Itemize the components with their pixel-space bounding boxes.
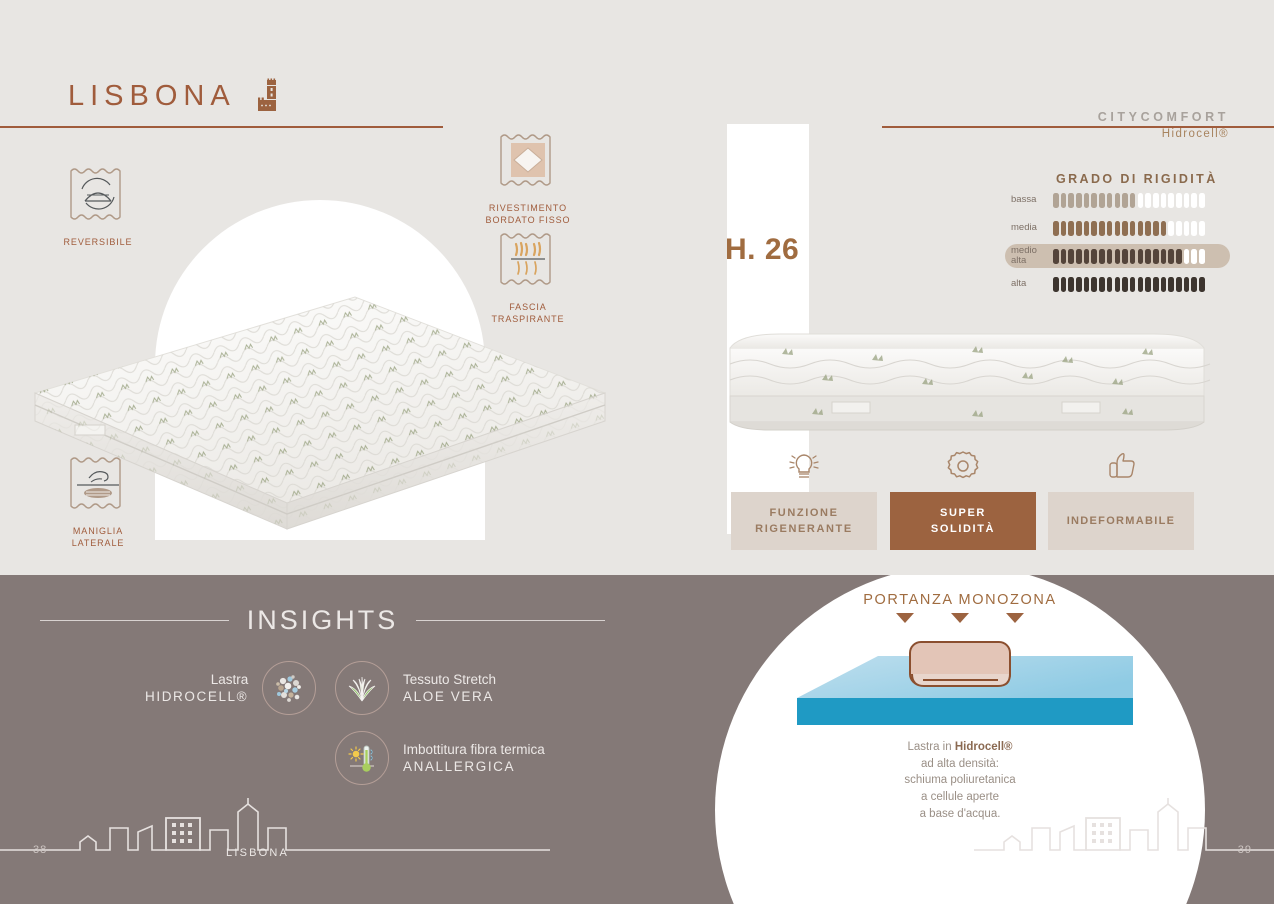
rigidity-bar-filled <box>1122 221 1128 236</box>
rigidity-bar-empty <box>1199 221 1205 236</box>
caption-pre: Lastra in <box>908 741 955 753</box>
rigidity-bar-filled <box>1145 221 1151 236</box>
benefit-super-solidita[interactable]: SUPER SOLIDITÀ <box>890 445 1036 550</box>
caption-line2: ad alta densità: <box>921 758 999 770</box>
benefit-line1: INDEFORMABILE <box>1067 513 1176 530</box>
rigidity-row-label: media <box>1005 223 1053 233</box>
rigidity-row-media: media <box>1005 216 1230 240</box>
rigidity-bar-filled <box>1076 193 1082 208</box>
feature-label-line1: FASCIA <box>509 302 546 312</box>
rigidity-bar-empty <box>1153 193 1159 208</box>
rigidity-bar-filled <box>1068 277 1074 292</box>
breathable-band-icon <box>497 228 559 290</box>
reversible-mattress-icon <box>67 163 129 225</box>
city-skyline-icon <box>974 798 1274 858</box>
rigidity-bar-filled <box>1191 277 1197 292</box>
rigidity-bar-filled <box>1099 221 1105 236</box>
insight-line2: ANALLERGICA <box>403 758 545 775</box>
rigidity-bar-filled <box>1153 221 1159 236</box>
rigidity-row-label: medioalta <box>1005 246 1053 266</box>
rigidity-bar-filled <box>1053 193 1059 208</box>
rigidity-bar-filled <box>1145 277 1151 292</box>
rigidity-bar-filled <box>1053 221 1059 236</box>
rigidity-bar-empty <box>1138 193 1144 208</box>
insights-header: INSIGHTS <box>40 605 605 636</box>
rigidity-bar-filled <box>1176 277 1182 292</box>
insight-line1: Tessuto Stretch <box>403 671 496 688</box>
page-title: LISBONA <box>68 80 236 113</box>
rigidity-bar-track <box>1053 249 1205 264</box>
rigidity-bar-filled <box>1130 221 1136 236</box>
rigidity-bar-empty <box>1199 193 1205 208</box>
insight-line1: Lastra <box>145 671 248 688</box>
rigidity-bar-filled <box>1084 249 1090 264</box>
rigidity-bar-filled <box>1176 249 1182 264</box>
foam-beads-icon <box>262 661 316 715</box>
rigidity-bar-filled <box>1061 193 1067 208</box>
rigidity-chart: bassamediamedioaltaalta <box>1005 188 1230 300</box>
rigidity-bar-filled <box>1053 249 1059 264</box>
rigidity-bar-filled <box>1115 193 1121 208</box>
rigidity-bar-filled <box>1161 277 1167 292</box>
thumbs-up-icon <box>1048 445 1194 487</box>
page-number-right: 39 <box>1238 844 1252 856</box>
rigidity-bar-track <box>1053 221 1205 236</box>
insights-rule-left <box>40 620 229 621</box>
brand-name: CITYCOMFORT <box>1098 110 1229 124</box>
benefit-line2: RIGENERANTE <box>755 521 853 538</box>
rigidity-bar-filled <box>1161 221 1167 236</box>
page-title-group: LISBONA <box>68 78 280 114</box>
feature-label: REVERSIBILE <box>43 237 153 249</box>
aloe-vera-icon <box>335 661 389 715</box>
rigidity-bar-filled <box>1107 249 1113 264</box>
page-number-left: 38 <box>33 844 47 856</box>
rigidity-bar-empty <box>1191 249 1197 264</box>
bottom-section: INSIGHTS Lastra HIDROCELL® <box>0 575 1274 904</box>
feature-label-line1: MANIGLIA <box>73 526 123 536</box>
rigidity-bar-filled <box>1076 221 1082 236</box>
rigidity-bar-empty <box>1168 193 1174 208</box>
rigidity-bar-filled <box>1076 277 1082 292</box>
rigidity-row-label: alta <box>1005 279 1053 289</box>
rigidity-bar-filled <box>1091 221 1097 236</box>
benefit-button-label[interactable]: FUNZIONE RIGENERANTE <box>731 492 877 550</box>
rigidity-bar-filled <box>1084 193 1090 208</box>
benefit-button-label[interactable]: INDEFORMABILE <box>1048 492 1194 550</box>
rigidity-bar-filled <box>1107 221 1113 236</box>
feature-reversibile: REVERSIBILE <box>43 163 153 249</box>
rigidity-bar-filled <box>1061 249 1067 264</box>
rigidity-bar-empty <box>1176 221 1182 236</box>
insights-title: INSIGHTS <box>247 605 399 636</box>
rigidity-bar-filled <box>1084 221 1090 236</box>
rigidity-bar-filled <box>1099 249 1105 264</box>
rigidity-bar-filled <box>1061 221 1067 236</box>
rigidity-bar-filled <box>1115 221 1121 236</box>
insights-rule-right <box>416 620 605 621</box>
rigidity-bar-filled <box>1068 221 1074 236</box>
feature-label-line1: RIVESTIMENTO <box>489 203 567 213</box>
benefit-funzione-rigenerante[interactable]: FUNZIONE RIGENERANTE <box>731 445 877 550</box>
arrow-down-icon <box>951 613 969 623</box>
rigidity-bar-filled <box>1130 193 1136 208</box>
rigidity-bar-filled <box>1168 277 1174 292</box>
rigidity-bar-track <box>1053 277 1205 292</box>
rigidity-bar-empty <box>1145 193 1151 208</box>
rigidity-bar-filled <box>1099 193 1105 208</box>
rigidity-row-label: bassa <box>1005 195 1053 205</box>
benefit-indeformabile[interactable]: INDEFORMABILE <box>1048 445 1194 550</box>
rigidity-bar-empty <box>1161 193 1167 208</box>
rigidity-bar-filled <box>1107 277 1113 292</box>
portanza-title: PORTANZA MONOZONA <box>715 592 1205 608</box>
rigidity-bar-filled <box>1091 277 1097 292</box>
rigidity-bar-filled <box>1115 249 1121 264</box>
height-badge: H. 26 <box>725 233 799 267</box>
fixed-bordered-cover-icon <box>497 129 559 191</box>
rigidity-bar-filled <box>1130 277 1136 292</box>
rigidity-bar-filled <box>1061 277 1067 292</box>
rigidity-bar-filled <box>1199 277 1205 292</box>
rigidity-bar-filled <box>1122 249 1128 264</box>
rigidity-bar-empty <box>1191 193 1197 208</box>
arrow-down-icon <box>1006 613 1024 623</box>
rigidity-bar-empty <box>1184 249 1190 264</box>
thermometer-icon <box>335 731 389 785</box>
rigidity-bar-empty <box>1176 193 1182 208</box>
body-block <box>910 642 1010 686</box>
rigidity-bar-filled <box>1107 193 1113 208</box>
title-divider <box>0 126 443 128</box>
rigidity-bar-filled <box>1115 277 1121 292</box>
rigidity-bar-filled <box>1076 249 1082 264</box>
insight-line2: ALOE VERA <box>403 688 496 705</box>
rigidity-bar-empty <box>1199 249 1205 264</box>
feature-maniglia-laterale: MANIGLIA LATERALE <box>43 452 153 550</box>
rigidity-bar-filled <box>1068 193 1074 208</box>
rigidity-bar-empty <box>1184 221 1190 236</box>
rigidity-bar-filled <box>1184 277 1190 292</box>
rigidity-bar-filled <box>1153 277 1159 292</box>
rigidity-bar-filled <box>1168 249 1174 264</box>
rigidity-row-medio: medioalta <box>1005 244 1230 268</box>
rigidity-bar-empty <box>1184 193 1190 208</box>
feature-rivestimento-bordato: RIVESTIMENTO BORDATO FISSO <box>473 129 583 227</box>
caption-strong: Hidrocell® <box>955 741 1013 753</box>
benefit-line1: FUNZIONE <box>769 505 838 522</box>
mattress-photo-right <box>722 318 1212 443</box>
rigidity-bar-filled <box>1084 277 1090 292</box>
rigidity-bar-filled <box>1138 221 1144 236</box>
rigidity-bar-filled <box>1138 277 1144 292</box>
feature-label-line2: BORDATO FISSO <box>486 215 571 225</box>
tower-icon <box>254 78 280 114</box>
rigidity-bar-filled <box>1145 249 1151 264</box>
caption-line3: schiuma poliuretanica <box>904 774 1015 786</box>
insight-line1: Imbottitura fibra termica <box>403 741 545 758</box>
rigidity-bar-empty <box>1191 221 1197 236</box>
rigidity-bar-track <box>1053 193 1205 208</box>
rigidity-bar-filled <box>1099 277 1105 292</box>
insight-item-hidrocell: Lastra HIDROCELL® <box>145 661 316 715</box>
rigidity-bar-filled <box>1161 249 1167 264</box>
rigidity-bar-filled <box>1122 277 1128 292</box>
insight-item-anallergica: Imbottitura fibra termica ANALLERGICA <box>335 731 545 785</box>
rigidity-row-alta: alta <box>1005 272 1230 296</box>
benefit-line2: SOLIDITÀ <box>931 521 995 538</box>
rigidity-bar-filled <box>1130 249 1136 264</box>
rigidity-bar-filled <box>1053 277 1059 292</box>
insight-line2: HIDROCELL® <box>145 688 248 705</box>
feature-fascia-traspirante: FASCIA TRASPIRANTE <box>473 228 583 326</box>
side-handle-icon <box>67 452 129 514</box>
feature-label-line2: LATERALE <box>72 538 125 548</box>
rigidity-bar-filled <box>1122 193 1128 208</box>
top-section: LISBONA CITYCOMFORT Hidrocell® <box>0 0 1274 575</box>
rigidity-title: GRADO DI RIGIDITÀ <box>1056 172 1218 186</box>
rigidity-bar-empty <box>1168 221 1174 236</box>
catalog-page: LISBONA CITYCOMFORT Hidrocell® <box>0 0 1274 904</box>
footer-label: LISBONA <box>226 847 289 859</box>
rigidity-bar-filled <box>1068 249 1074 264</box>
portanza-arrows <box>715 613 1205 623</box>
arrow-down-icon <box>896 613 914 623</box>
rigidity-bar-filled <box>1153 249 1159 264</box>
feature-label-line2: TRASPIRANTE <box>492 314 565 324</box>
insight-item-aloe: Tessuto Stretch ALOE VERA <box>335 661 496 715</box>
rigidity-row-bassa: bassa <box>1005 188 1230 212</box>
brand-subtitle: Hidrocell® <box>1162 128 1229 140</box>
portanza-slab-diagram <box>715 630 1205 750</box>
gear-icon <box>890 445 1036 487</box>
benefit-line1: SUPER <box>940 505 986 522</box>
rigidity-bar-filled <box>1138 249 1144 264</box>
rigidity-bar-filled <box>1091 249 1097 264</box>
benefit-button-label[interactable]: SUPER SOLIDITÀ <box>890 492 1036 550</box>
lightbulb-icon <box>731 445 877 487</box>
rigidity-bar-filled <box>1091 193 1097 208</box>
